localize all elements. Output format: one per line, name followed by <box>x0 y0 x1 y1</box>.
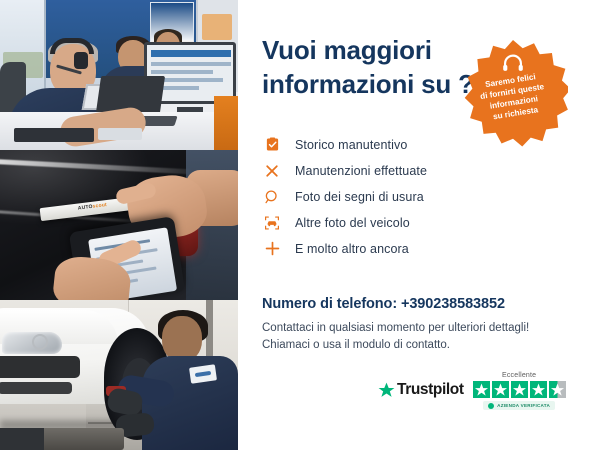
star-icon <box>511 381 528 398</box>
list-item: Manutenzioni effettuate <box>262 158 512 183</box>
content-panel: Vuoi maggiori informazioni su ? Saremo f… <box>238 0 600 450</box>
clipboard-check-icon <box>262 135 282 155</box>
trustpilot-widget[interactable]: Trustpilot Eccellente <box>378 372 566 410</box>
star-rating <box>473 381 566 398</box>
list-item-label: Storico manutentivo <box>295 138 407 152</box>
check-dot-icon <box>488 403 494 409</box>
star-icon-half <box>549 381 566 398</box>
photo-collage: AUTOscout <box>0 0 238 450</box>
orange-object <box>214 96 238 150</box>
rating-label: Eccellente <box>502 372 536 379</box>
car-frame-icon <box>262 213 282 233</box>
photo-vehicle-inspection: AUTOscout <box>0 150 238 300</box>
screen-row <box>151 50 231 57</box>
list-item-label: Altre foto del veicolo <box>295 216 410 230</box>
list-item-label: Foto dei segni di usura <box>295 190 424 204</box>
headset-earcup <box>74 52 88 69</box>
plus-icon <box>262 239 282 259</box>
wrench-cross-icon <box>262 161 282 181</box>
list-item: E molto altro ancora <box>262 236 512 261</box>
page-title: Vuoi maggiori informazioni su ? <box>262 33 474 101</box>
keyboard <box>14 128 94 142</box>
screen-row <box>151 62 231 66</box>
verified-label: AZIENDA VERIFICATA <box>497 403 550 408</box>
photo-mechanic-lift <box>0 300 238 450</box>
list-item: Storico manutentivo <box>262 132 512 157</box>
trustpilot-rating: Eccellente <box>473 372 566 410</box>
strip-brand-label: AUTOscout <box>78 202 108 212</box>
car-grille <box>0 356 80 378</box>
trustpilot-wordmark: Trustpilot <box>397 381 464 399</box>
contact-description: Contattaci in qualsiasi momento per ulte… <box>262 320 529 354</box>
trustpilot-logo: Trustpilot <box>378 381 464 399</box>
mouse-pad <box>98 128 142 140</box>
list-item: Foto dei segni di usura <box>262 184 512 209</box>
car-emblem <box>32 334 48 350</box>
shelf-picture <box>202 14 232 40</box>
floor-box <box>0 428 44 450</box>
list-item: Altre foto del veicolo <box>262 210 512 235</box>
trustpilot-star-icon <box>378 382 395 399</box>
screen-row <box>151 70 213 74</box>
verified-badge: AZIENDA VERIFICATA <box>483 401 555 410</box>
car-lower-grille <box>0 382 72 394</box>
star-icon <box>492 381 509 398</box>
magnifier-icon <box>262 187 282 207</box>
star-icon <box>530 381 547 398</box>
photo-call-center <box>0 0 238 150</box>
headset-icon <box>502 54 524 72</box>
feature-list: Storico manutentivo Manutenzioni effettu… <box>262 132 512 262</box>
headset-band <box>50 38 94 54</box>
list-item-label: E molto altro ancora <box>295 242 409 256</box>
promo-banner: AUTOscout <box>0 0 600 450</box>
phone-number: Numero di telefono: +390238583852 <box>262 296 505 312</box>
list-item-label: Manutenzioni effettuate <box>295 164 427 178</box>
star-icon <box>473 381 490 398</box>
badge-text: Saremo felici di fornirti queste informa… <box>468 69 558 126</box>
